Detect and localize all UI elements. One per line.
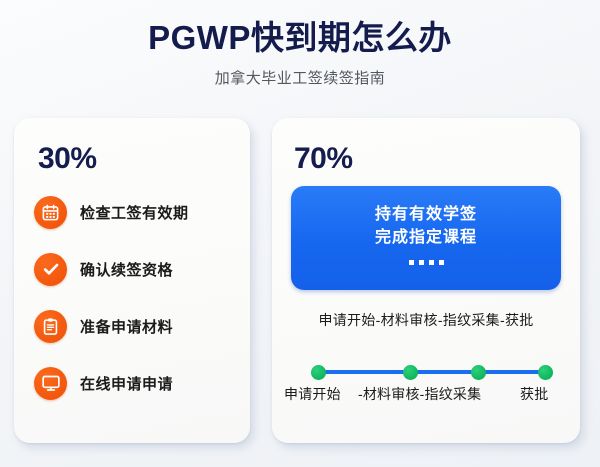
ellipsis-dots [409,260,444,265]
requirement-line-1: 持有有效学签 [375,203,477,226]
list-item[interactable]: 准备申请材料 [34,306,240,346]
timeline-line [318,370,547,374]
check-icon [34,253,67,286]
list-item[interactable]: 确认续签资格 [34,249,240,289]
timeline [272,358,580,384]
timeline-dot-2[interactable] [403,365,418,380]
dot [429,260,434,265]
dot [409,260,414,265]
list-item-label: 准备申请材料 [80,316,173,337]
flow-text: 申请开始-材料审核-指纹采集-获批 [272,310,580,330]
left-card-percent: 30% [38,144,97,174]
clipboard-icon [34,310,67,343]
timeline-label-middle: -材料审核-指纹采集 [358,384,481,404]
list-item-label: 检查工签有效期 [80,202,189,223]
requirement-line-2: 完成指定课程 [375,226,477,249]
right-card: 70% 持有有效学签 完成指定课程 申请开始-材料审核-指纹采集-获批 [272,118,580,443]
timeline-label-end: 获批 [520,384,548,404]
timeline-dot-3[interactable] [471,365,486,380]
list-item[interactable]: 在线申请申请 [34,363,240,403]
list-item-label: 确认续签资格 [80,259,173,280]
page-title: PGWP快到期怎么办 [0,18,600,58]
right-card-percent: 70% [294,144,353,174]
list-item[interactable]: 检查工签有效期 [34,192,240,232]
timeline-label-start: 申请开始 [284,384,341,404]
header: PGWP快到期怎么办 加拿大毕业工签续签指南 [0,18,600,88]
poster-root: PGWP快到期怎么办 加拿大毕业工签续签指南 30% [0,0,600,467]
monitor-icon [34,367,67,400]
left-card: 30% [14,118,250,443]
calendar-icon [34,196,67,229]
dot [419,260,424,265]
timeline-dot-1[interactable] [311,365,326,380]
checklist: 检查工签有效期 确认续签资格 [34,192,240,420]
requirements-panel: 持有有效学签 完成指定课程 [291,186,561,290]
page-subtitle: 加拿大毕业工签续签指南 [0,67,600,88]
timeline-dot-4[interactable] [538,365,553,380]
list-item-label: 在线申请申请 [80,373,173,394]
timeline-labels: 申请开始 -材料审核-指纹采集 获批 [272,384,580,406]
cards-container: 30% [0,118,600,448]
dot [439,260,444,265]
